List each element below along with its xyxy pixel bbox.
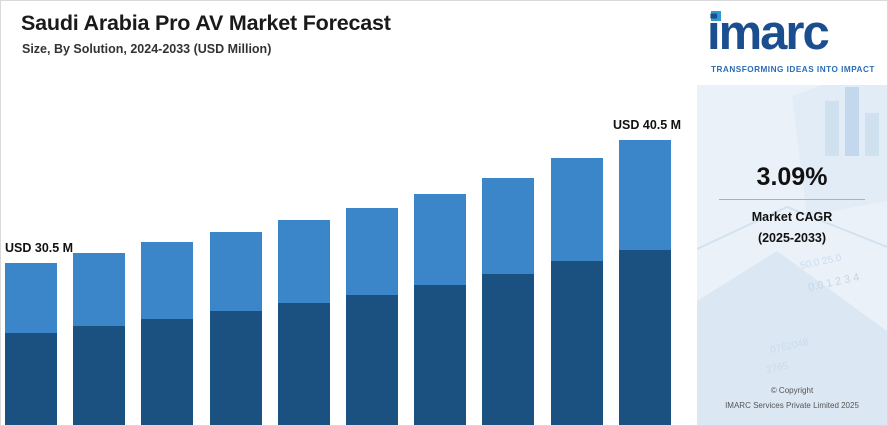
brand-panel: 0.0 1 2 3 4 50.0 25.0 0762048 2765 imarc… <box>697 1 887 425</box>
bar-segment-services-2033 <box>619 140 671 250</box>
bar-segment-products-2031 <box>482 274 534 426</box>
bar-group-2027 <box>210 232 262 426</box>
chart-panel: Saudi Arabia Pro AV Market Forecast Size… <box>1 1 697 425</box>
imarc-logo: imarc <box>707 9 828 58</box>
bar-segment-products-2033 <box>619 250 671 426</box>
bar-segment-services-2028 <box>278 220 330 303</box>
bar-group-2033 <box>619 140 671 426</box>
bar-group-2026 <box>141 242 193 426</box>
page-title: Saudi Arabia Pro AV Market Forecast <box>21 11 391 36</box>
bar-group-2025 <box>73 253 125 426</box>
annotation-end-value: USD 40.5 M <box>613 118 681 132</box>
bar-segment-services-2031 <box>482 178 534 274</box>
bar-segment-products-2027 <box>210 311 262 426</box>
logo-tagline: TRANSFORMING IDEAS INTO IMPACT <box>711 65 875 74</box>
chart-infographic: Saudi Arabia Pro AV Market Forecast Size… <box>0 0 888 426</box>
bar-segment-services-2027 <box>210 232 262 311</box>
cagr-period: (2025-2033) <box>697 231 887 245</box>
copyright-text: © Copyright <box>697 386 887 395</box>
bar-segment-products-2024 <box>5 333 57 426</box>
cagr-value: 3.09% <box>697 163 887 192</box>
annotation-start-value: USD 30.5 M <box>5 241 73 255</box>
bar-segment-products-2028 <box>278 303 330 426</box>
bar-group-2031 <box>482 178 534 426</box>
company-text: IMARC Services Private Limited 2025 <box>697 401 887 410</box>
bar-segment-services-2024 <box>5 263 57 333</box>
bar-segment-products-2030 <box>414 285 466 426</box>
cagr-label: Market CAGR <box>697 210 887 224</box>
bar-segment-products-2032 <box>551 261 603 426</box>
bar-segment-services-2032 <box>551 158 603 261</box>
bar-segment-services-2026 <box>141 242 193 318</box>
bar-group-2029 <box>346 208 398 426</box>
bar-segment-services-2030 <box>414 194 466 285</box>
bar-group-2032 <box>551 158 603 426</box>
bar-group-2030 <box>414 194 466 426</box>
bar-group-2024 <box>5 263 57 426</box>
cagr-divider <box>719 199 865 200</box>
bar-segment-products-2029 <box>346 295 398 426</box>
bar-segment-services-2025 <box>73 253 125 326</box>
chart-subtitle: Size, By Solution, 2024-2033 (USD Millio… <box>22 42 271 56</box>
bar-segment-products-2026 <box>141 319 193 426</box>
logo-block: imarc TRANSFORMING IDEAS INTO IMPACT <box>697 1 887 85</box>
bar-group-2028 <box>278 220 330 426</box>
bar-segment-products-2025 <box>73 326 125 426</box>
bar-segment-services-2029 <box>346 208 398 294</box>
plot-area: 2024202520262027202820292030203120322033… <box>1 63 697 365</box>
